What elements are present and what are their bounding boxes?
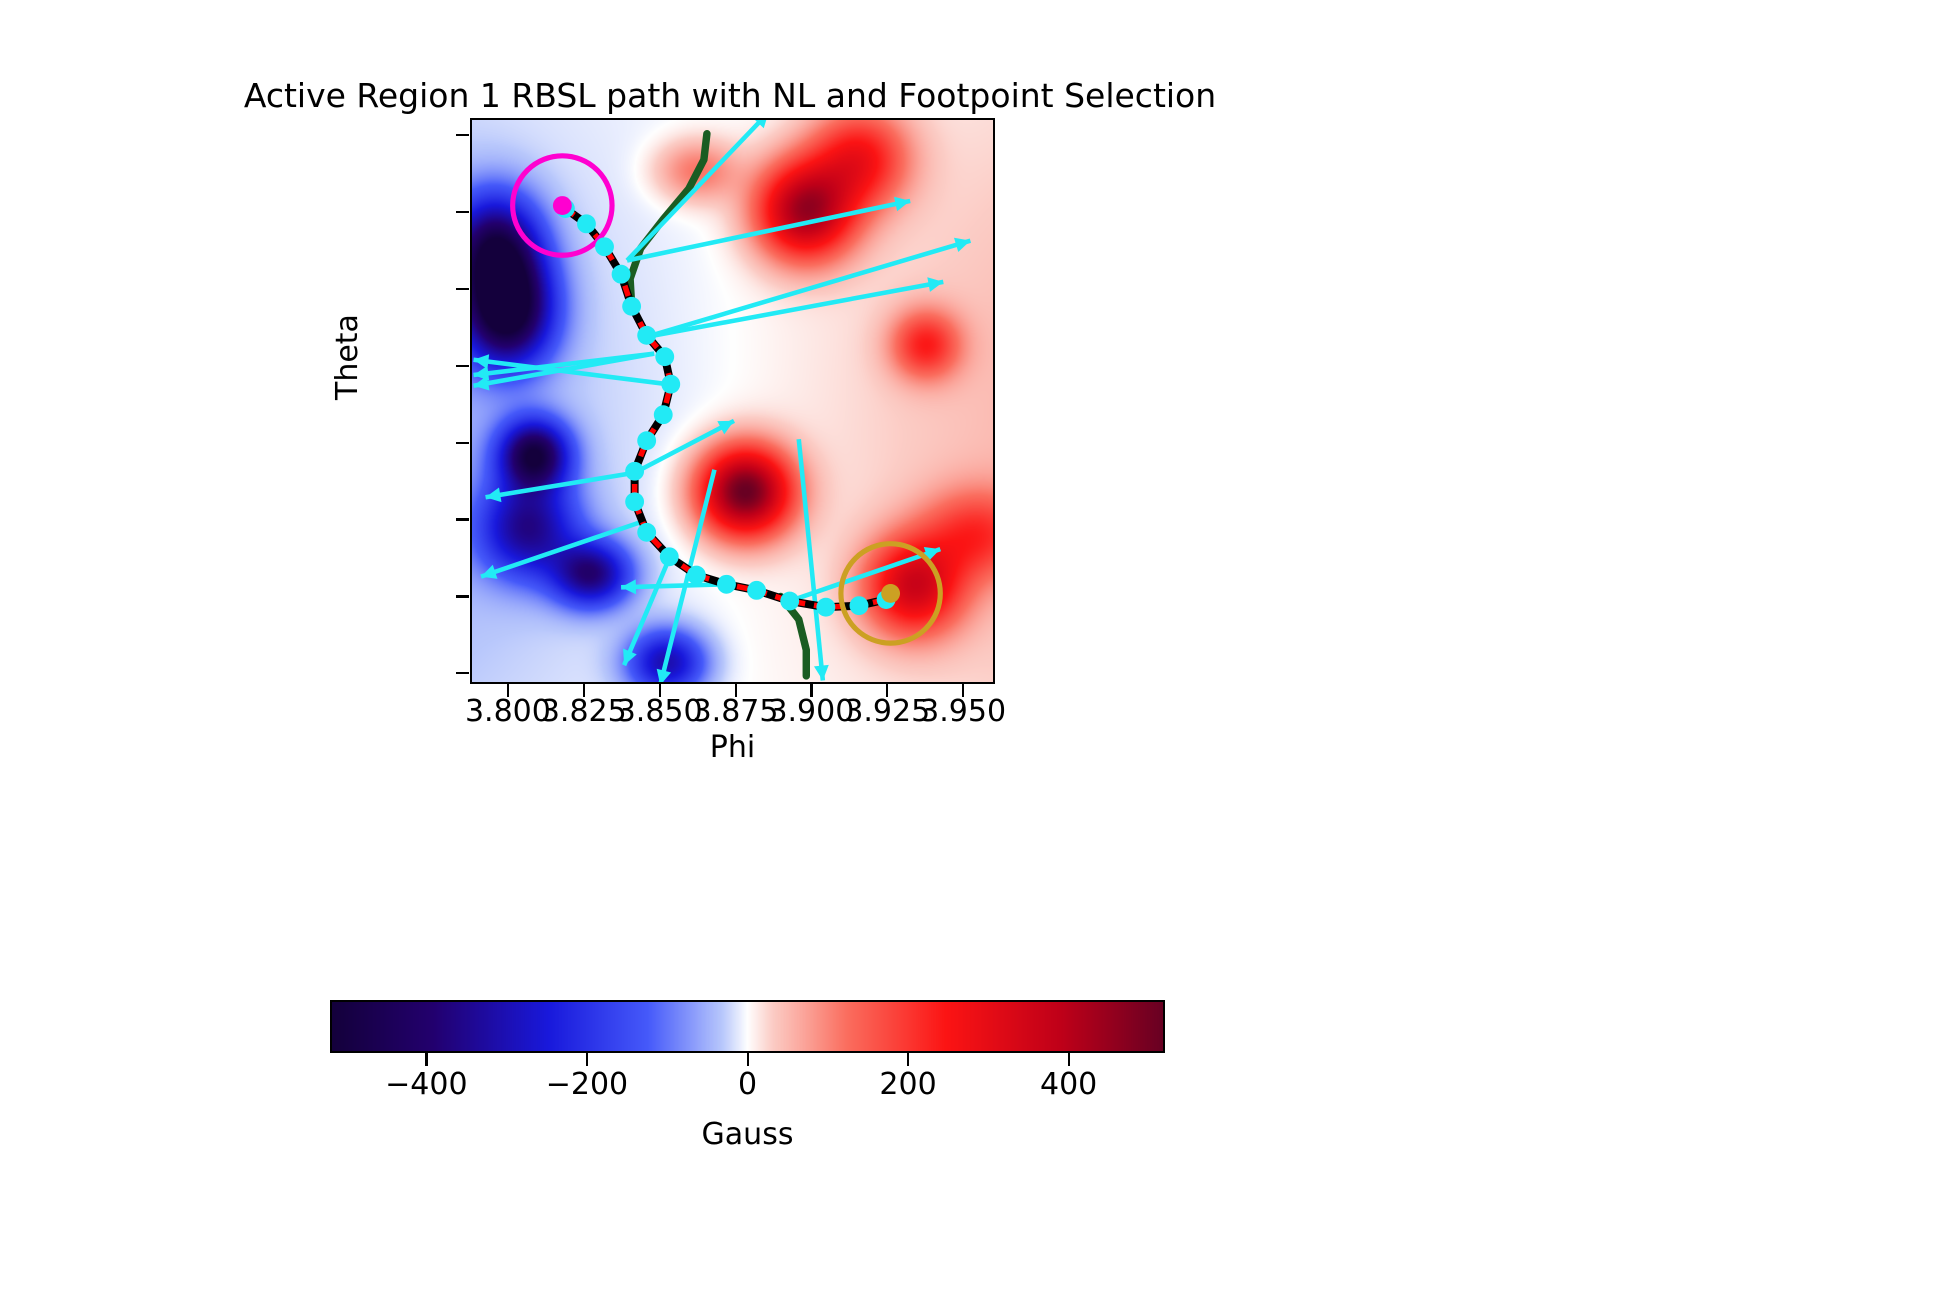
footpoint-marker[interactable] (717, 575, 736, 594)
x-tick-mark (962, 684, 964, 697)
y-tick-mark (456, 365, 469, 367)
vector-arrow-head (657, 669, 671, 682)
figure-canvas: Active Region 1 RBSL path with NL and Fo… (0, 0, 1948, 1295)
y-tick-mark (456, 134, 469, 136)
vector-arrow-shaft (647, 241, 971, 337)
vector-arrow-shaft (624, 558, 669, 665)
vector-arrow-head (621, 579, 636, 594)
vector-arrow-shaft (486, 473, 635, 497)
y-tick-mark (456, 442, 469, 444)
x-tick-mark (810, 684, 812, 697)
colorbar-tick-mark (586, 1053, 588, 1066)
colorbar-gradient (332, 1002, 1163, 1051)
colorbar[interactable] (330, 1000, 1165, 1053)
footpoint-marker[interactable] (654, 405, 673, 424)
footpoint-marker[interactable] (637, 523, 656, 542)
vector-arrow-head (894, 197, 910, 211)
x-tick-mark (735, 684, 737, 697)
colorbar-tick-mark (907, 1053, 909, 1066)
footpoint-marker[interactable] (747, 581, 766, 600)
y-tick-mark (456, 518, 469, 520)
colorbar-label: Gauss (330, 1117, 1165, 1152)
x-axis-label: Phi (470, 730, 995, 765)
footpoint-marker[interactable] (816, 598, 835, 617)
vector-arrow-shaft (621, 584, 726, 587)
colorbar-tick-mark (425, 1053, 427, 1066)
y-tick-mark (456, 595, 469, 597)
vector-arrow-head (814, 665, 829, 681)
footpoint-marker[interactable] (661, 375, 680, 394)
y-axis-label: Theta (330, 314, 365, 400)
footpoint-marker[interactable] (655, 347, 674, 366)
x-tick-label: 3.950 (898, 697, 1028, 727)
x-tick-mark (583, 684, 585, 697)
footpoint-marker[interactable] (637, 326, 656, 345)
x-tick-mark (886, 684, 888, 697)
y-tick-mark (456, 288, 469, 290)
vector-arrow-head (481, 565, 497, 579)
selected-footpoint-dot-negative-footpoint[interactable] (553, 196, 572, 215)
footpoint-marker[interactable] (625, 492, 644, 511)
vector-arrow-shaft (481, 522, 642, 577)
footpoint-marker[interactable] (612, 265, 631, 284)
footpoint-marker[interactable] (687, 566, 706, 585)
rbsl-path-base (565, 209, 886, 608)
path-overlay (472, 120, 993, 682)
footpoint-marker[interactable] (850, 596, 869, 615)
vector-arrow-shaft (647, 282, 944, 337)
colorbar-tick-label: −400 (356, 1069, 496, 1101)
footpoint-marker[interactable] (577, 214, 596, 233)
colorbar-tick-label: −200 (517, 1069, 657, 1101)
colorbar-tick-label: 200 (838, 1069, 978, 1101)
y-tick-mark (456, 672, 469, 674)
colorbar-tick-mark (747, 1053, 749, 1066)
x-tick-mark (659, 684, 661, 697)
page-title: Active Region 1 RBSL path with NL and Fo… (0, 76, 1460, 115)
selected-footpoint-dot-positive-footpoint[interactable] (881, 584, 900, 603)
footpoint-marker[interactable] (780, 592, 799, 611)
footpoint-marker[interactable] (625, 462, 644, 481)
colorbar-tick-label: 0 (678, 1069, 818, 1101)
footpoint-marker[interactable] (637, 431, 656, 450)
vector-arrow-shaft (627, 120, 769, 260)
colorbar-tick-mark (1068, 1053, 1070, 1066)
x-tick-mark (507, 684, 509, 697)
footpoint-marker[interactable] (622, 297, 641, 316)
y-tick-mark (456, 211, 469, 213)
footpoint-marker[interactable] (660, 547, 679, 566)
footpoint-marker[interactable] (595, 237, 614, 256)
colorbar-tick-label: 400 (999, 1069, 1139, 1101)
magnetogram-axes[interactable] (470, 118, 995, 684)
